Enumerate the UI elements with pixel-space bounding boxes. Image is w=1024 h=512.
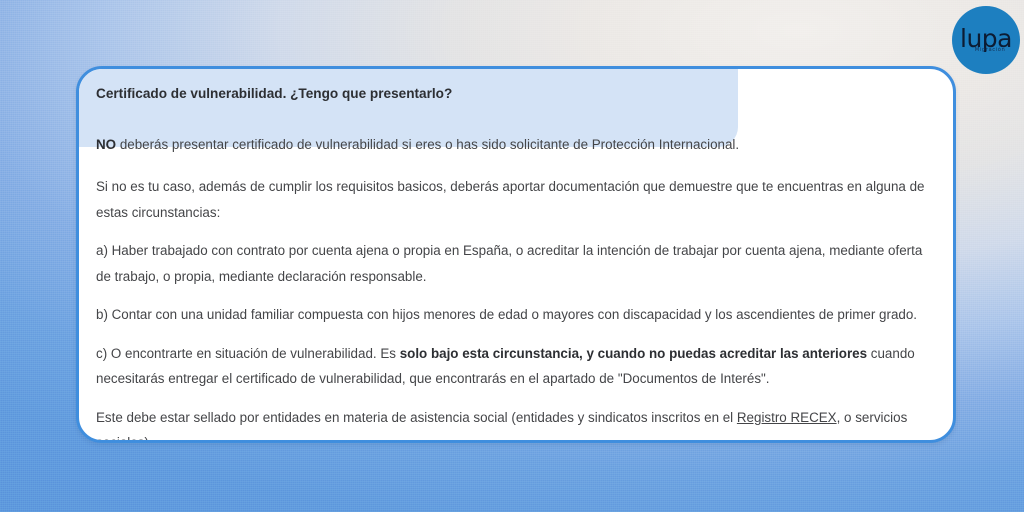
info-card: Certificado de vulnerabilidad. ¿Tengo qu…: [76, 66, 956, 443]
item-c-bold: solo bajo esta circunstancia, y cuando n…: [400, 346, 867, 361]
registro-recex-link[interactable]: Registro RECEX: [737, 410, 837, 425]
highlight-bold-prefix: NO: [96, 137, 116, 152]
stamp-paragraph: Este debe estar sellado por entidades en…: [96, 405, 925, 444]
highlight-rest: deberás presentar certificado de vulnera…: [116, 137, 739, 152]
item-c-part1: c) O encontrarte en situación de vulnera…: [96, 346, 400, 361]
slide-canvas: lupa Migración Certificado de vulnerabil…: [0, 0, 1024, 512]
lupa-logo: lupa Migración: [952, 6, 1020, 74]
highlight-paragraph: NO deberás presentar certificado de vuln…: [96, 132, 925, 158]
logo-subtitle: Migración: [975, 47, 1006, 53]
item-c-paragraph: c) O encontrarte en situación de vulnera…: [96, 341, 925, 392]
item-a-paragraph: a) Haber trabajado con contrato por cuen…: [96, 238, 925, 289]
card-content: Certificado de vulnerabilidad. ¿Tengo qu…: [79, 69, 953, 443]
card-title: Certificado de vulnerabilidad. ¿Tengo qu…: [96, 81, 925, 107]
intro-paragraph: Si no es tu caso, además de cumplir los …: [96, 174, 925, 225]
item-b-paragraph: b) Contar con una unidad familiar compue…: [96, 302, 925, 328]
info-card-inner: Certificado de vulnerabilidad. ¿Tengo qu…: [79, 69, 953, 440]
stamp-part1: Este debe estar sellado por entidades en…: [96, 410, 737, 425]
